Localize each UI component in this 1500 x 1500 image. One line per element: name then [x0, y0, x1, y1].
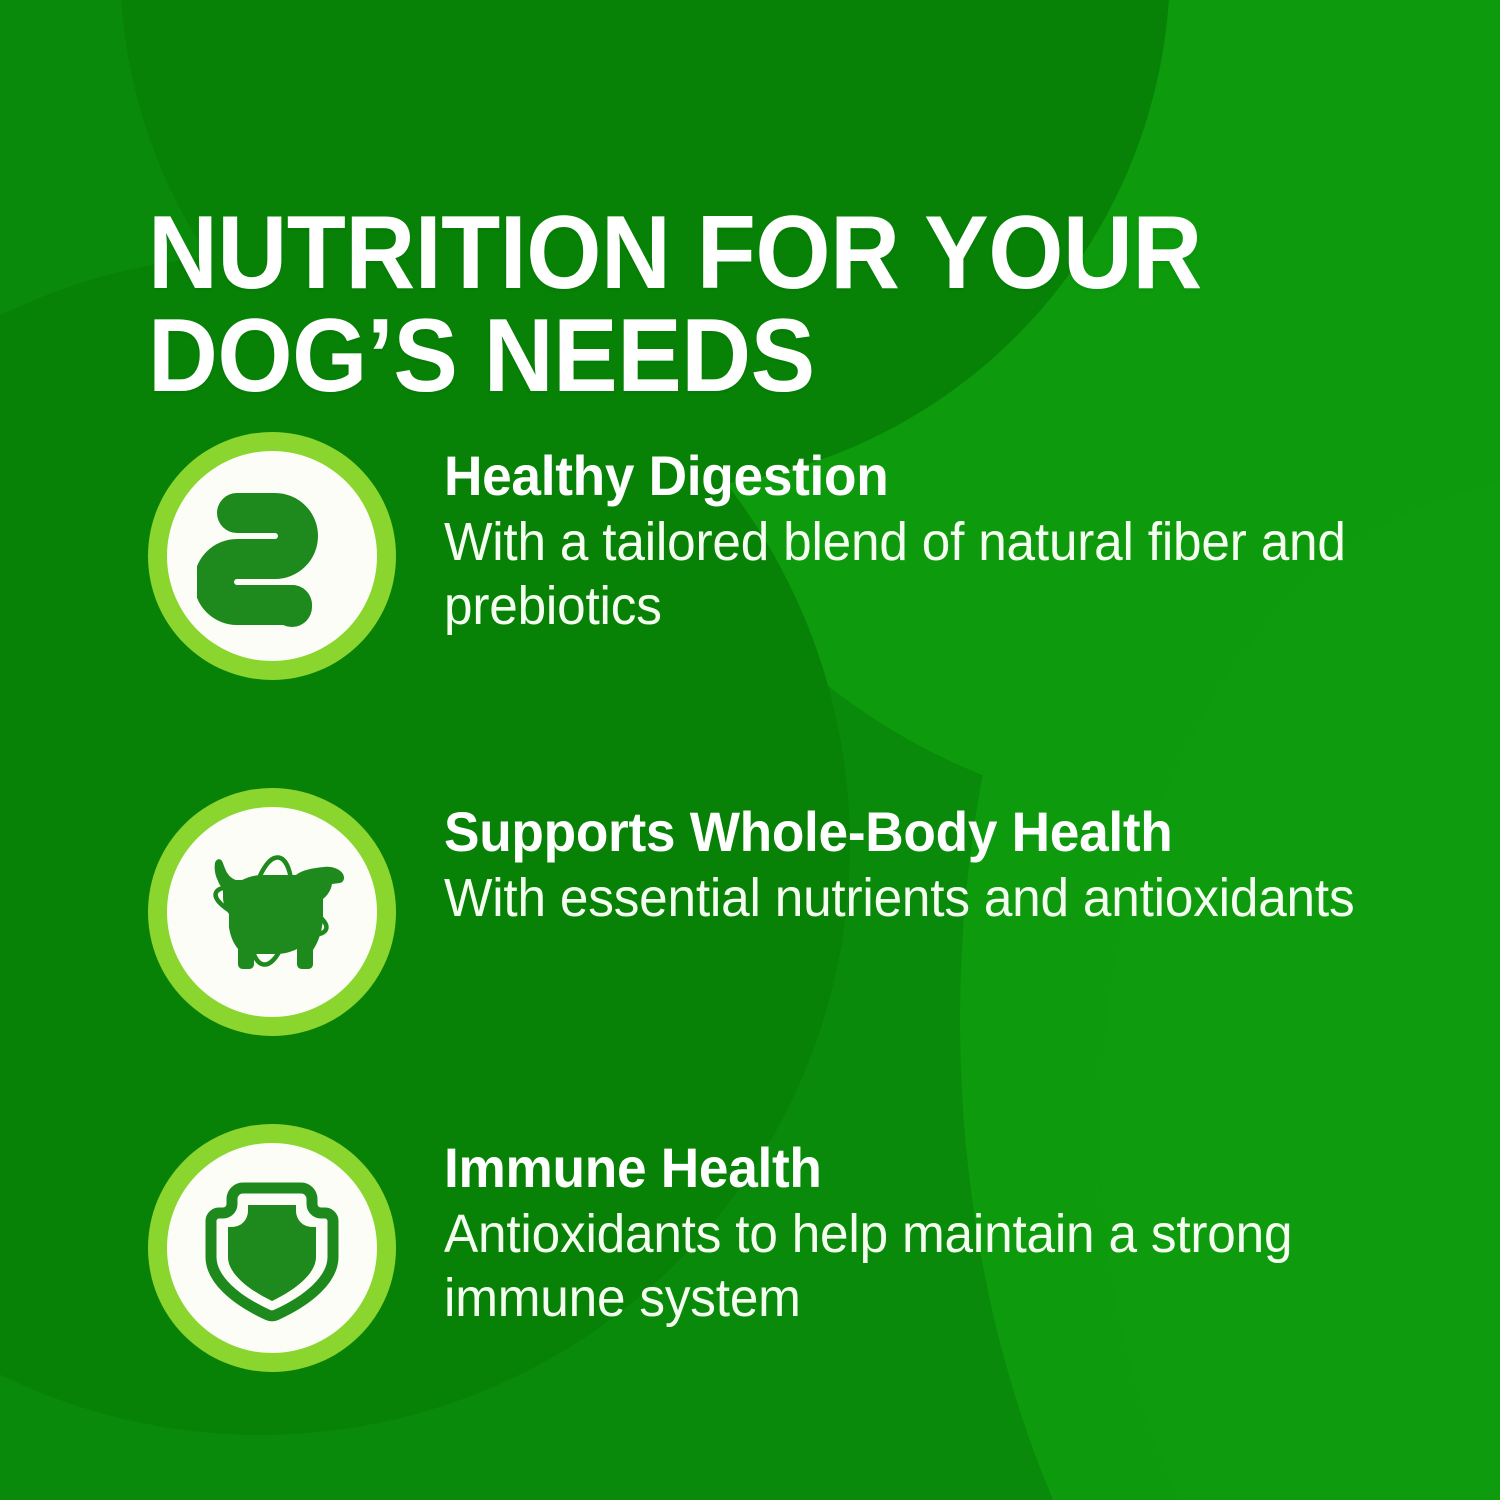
benefit-title: Healthy Digestion: [444, 446, 1413, 505]
benefit-item-whole-body-health: Supports Whole-Body Health With essentia…: [148, 788, 1402, 1036]
page-title: NUTRITION FOR YOUR DOG’S NEEDS: [148, 202, 1292, 408]
benefit-description: With a tailored blend of natural fiber a…: [444, 511, 1413, 638]
nutrition-benefits-panel: NUTRITION FOR YOUR DOG’S NEEDS Healthy D…: [0, 0, 1500, 1500]
benefit-text-block: Immune Health Antioxidants to help maint…: [396, 1124, 1464, 1331]
dog-orbit-icon: [167, 807, 377, 1017]
benefit-text-block: Healthy Digestion With a tailored blend …: [396, 432, 1464, 639]
benefit-item-immune-health: Immune Health Antioxidants to help maint…: [148, 1124, 1464, 1372]
benefit-item-healthy-digestion: Healthy Digestion With a tailored blend …: [148, 432, 1464, 680]
benefit-icon-badge: [148, 432, 396, 680]
intestine-icon: [167, 451, 377, 661]
benefit-text-block: Supports Whole-Body Health With essentia…: [396, 788, 1402, 931]
benefit-title: Immune Health: [444, 1138, 1413, 1197]
benefit-description: With essential nutrients and antioxidant…: [444, 867, 1354, 931]
benefit-description: Antioxidants to help maintain a strong i…: [444, 1203, 1413, 1330]
benefit-icon-badge: [148, 788, 396, 1036]
shield-icon: [167, 1143, 377, 1353]
benefit-title: Supports Whole-Body Health: [444, 802, 1354, 861]
benefit-icon-badge: [148, 1124, 396, 1372]
